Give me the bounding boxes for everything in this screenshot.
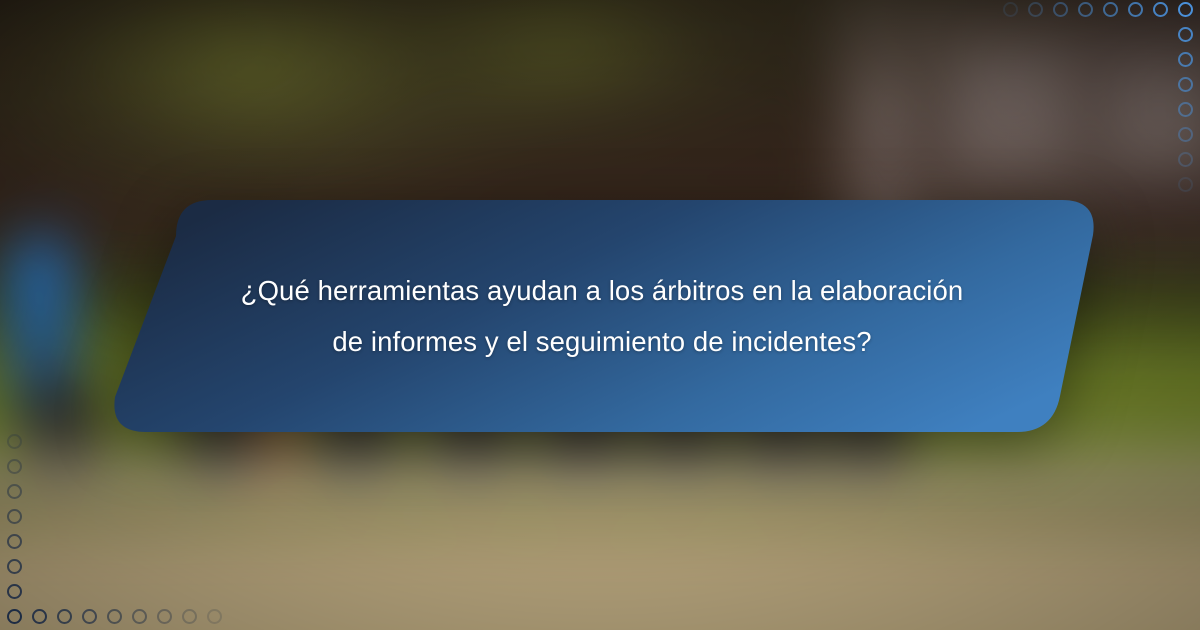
decorative-dot [1153, 2, 1168, 17]
decorative-dot [7, 434, 22, 449]
decorative-dot [1053, 2, 1068, 17]
decorative-dot [1178, 27, 1193, 42]
decorative-dot [1103, 2, 1118, 17]
decorative-dot [1178, 177, 1193, 192]
decorative-dot [1128, 2, 1143, 17]
decorative-dot [107, 609, 122, 624]
question-line-2: de informes y el seguimiento de incident… [332, 316, 871, 367]
decorative-dot [1178, 77, 1193, 92]
decorative-dot [7, 559, 22, 574]
decorative-dot [1178, 2, 1193, 17]
decorative-dot [57, 609, 72, 624]
decorative-dot [132, 609, 147, 624]
decorative-dot [207, 609, 222, 624]
question-text-block: ¿Qué herramientas ayudan a los árbitros … [100, 196, 1104, 436]
background-ground [0, 448, 1200, 630]
decorative-dot [7, 534, 22, 549]
decorative-dot [7, 584, 22, 599]
question-card: ¿Qué herramientas ayudan a los árbitros … [100, 196, 1104, 436]
slide-canvas: ¿Qué herramientas ayudan a los árbitros … [0, 0, 1200, 630]
decorative-dot [1003, 2, 1018, 17]
decorative-dot [1178, 127, 1193, 142]
decorative-dot [7, 484, 22, 499]
background-window [950, 50, 1077, 167]
decorative-dot [1078, 2, 1093, 17]
decorative-dot [32, 609, 47, 624]
decorative-dot [1178, 52, 1193, 67]
question-line-1: ¿Qué herramientas ayudan a los árbitros … [241, 265, 964, 316]
decorative-dot [1178, 152, 1193, 167]
background-grass-strip [0, 490, 1200, 532]
decorative-dot [7, 609, 22, 624]
decorative-dot [1178, 102, 1193, 117]
decorative-dot [7, 459, 22, 474]
decorative-dot [182, 609, 197, 624]
decorative-dot [82, 609, 97, 624]
decorative-dot [1028, 2, 1043, 17]
decorative-dot [157, 609, 172, 624]
background-window [865, 71, 903, 161]
decorative-dot [7, 509, 22, 524]
